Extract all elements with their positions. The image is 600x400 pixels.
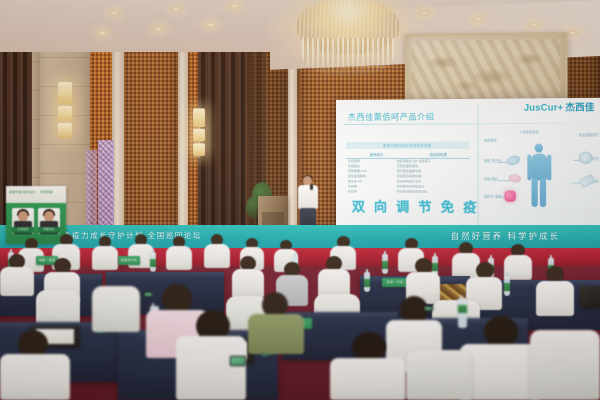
diagram-center-label: 人体免疫系统 — [519, 129, 539, 134]
chair-cover — [530, 330, 600, 400]
audience-member — [330, 332, 406, 400]
diagram-callout-left: 骨髓 脾脏 — [484, 176, 498, 181]
ceiling-downlight — [228, 3, 241, 9]
table-cell: 修复肠道黏膜屏障功能 — [395, 190, 470, 195]
name-card-label: 经销商代表 — [118, 256, 140, 265]
projection-screen: JusCur+杰西佳 杰西佳蕾佰呵产品介绍 蕾佰呵原料成分作用表现说明 营养成分… — [336, 98, 600, 232]
diagram-right-header: 免疫细胞组织 — [579, 132, 599, 137]
wall-sconce — [193, 108, 205, 157]
smartphone[interactable] — [144, 292, 153, 297]
human-body-silhouette — [525, 143, 552, 207]
smartphone[interactable] — [424, 306, 433, 311]
audience-member — [166, 236, 192, 270]
conference-photo: JusCur+杰西佳 杰西佳蕾佰呵产品介绍 蕾佰呵原料成分作用表现说明 营养成分… — [0, 0, 600, 400]
audience-member — [248, 292, 304, 354]
water-bottle — [150, 252, 156, 272]
audience-member — [504, 244, 532, 280]
organ-icon-lymph — [579, 152, 593, 164]
organ-icon-cell — [504, 191, 515, 202]
speaker-presenter — [297, 176, 319, 232]
water-bottle — [364, 272, 370, 292]
table-name-card: 区域 / 代表 — [382, 278, 408, 287]
name-card-label: 区域 / 代表 — [382, 278, 408, 287]
wall-sconce — [58, 82, 72, 140]
chair-cover — [406, 350, 472, 400]
diagram-left-header: 免疫器官 — [484, 137, 497, 142]
audience-member — [0, 254, 34, 296]
brand-logo-chinese: 杰西佳 — [565, 102, 594, 113]
organ-icon-tissue — [578, 174, 596, 189]
microphone — [310, 184, 313, 190]
slide-ingredient-table: 蕾佰呵原料成分作用表现说明 营养成分 适应用机理 牛初乳粉 免疫球蛋白 IgG … — [346, 142, 469, 196]
audience-member — [0, 330, 70, 400]
ceiling-downlight — [204, 22, 217, 28]
rollup-heading-left: 健康中国 营养先行 — [9, 190, 36, 194]
brand-logo-plus: + — [558, 102, 564, 112]
audience-member — [536, 266, 574, 316]
table-header-cell: 适应用机理 — [407, 151, 469, 158]
smartphone[interactable] — [230, 356, 246, 366]
ceiling-downlight — [528, 22, 541, 28]
organ-icon-spleen — [508, 173, 522, 184]
table-name-card: 经销商代表 — [118, 256, 140, 265]
ceiling-downlight — [566, 30, 579, 36]
ceiling-downlight — [418, 10, 431, 16]
audience-member — [92, 236, 118, 270]
crystal-chandelier — [288, 0, 408, 84]
handbag — [580, 286, 600, 308]
table-caption: 蕾佰呵原料成分作用表现说明 — [346, 142, 469, 149]
table-header-row: 营养成分 适应用机理 — [346, 151, 469, 159]
water-bottle — [382, 254, 388, 274]
table-cell: 核苷酸 — [346, 190, 395, 195]
water-bottle — [504, 276, 510, 296]
rollup-speaker-name: 特邀专家 — [38, 227, 60, 233]
rollup-speaker-portrait: 主讲嘉宾 — [12, 208, 34, 234]
audience-member — [176, 310, 246, 400]
rollup-speaker-portrait: 特邀专家 — [38, 208, 60, 234]
ceiling-downlight — [96, 30, 109, 36]
brand-logo-latin: JusCur — [524, 102, 558, 112]
slide-title: 杰西佳蕾佰呵产品介绍 — [348, 111, 435, 123]
rollup-heading-right: 专家讲堂 — [40, 190, 53, 194]
slide-headline: 双向调节免疫 — [352, 196, 486, 216]
table-header-cell: 营养成分 — [346, 151, 407, 158]
immune-system-diagram: 人体免疫系统 免疫器官 免疫细胞组织 胸腺 淋巴结 骨髓 脾脏 扁桃体 肠道 淋… — [484, 129, 599, 216]
brand-logo: JusCur+杰西佳 — [524, 100, 595, 114]
ceiling-downlight — [472, 16, 485, 22]
ceiling-downlight — [108, 10, 121, 16]
banner-text-right: 自然好营养 科学护成长 — [451, 230, 560, 242]
ceiling-downlight — [152, 26, 165, 32]
diagram-leader-line — [498, 180, 510, 181]
chair-cover — [92, 286, 140, 332]
rollup-speaker-name: 主讲嘉宾 — [12, 227, 34, 233]
ceiling-downlight — [170, 6, 183, 12]
audience-member — [204, 234, 230, 268]
audience-member — [460, 316, 540, 400]
slide-divider — [344, 123, 597, 125]
organ-icon-thymus — [505, 154, 521, 167]
table-row: 核苷酸 修复肠道黏膜屏障功能 — [346, 190, 469, 196]
